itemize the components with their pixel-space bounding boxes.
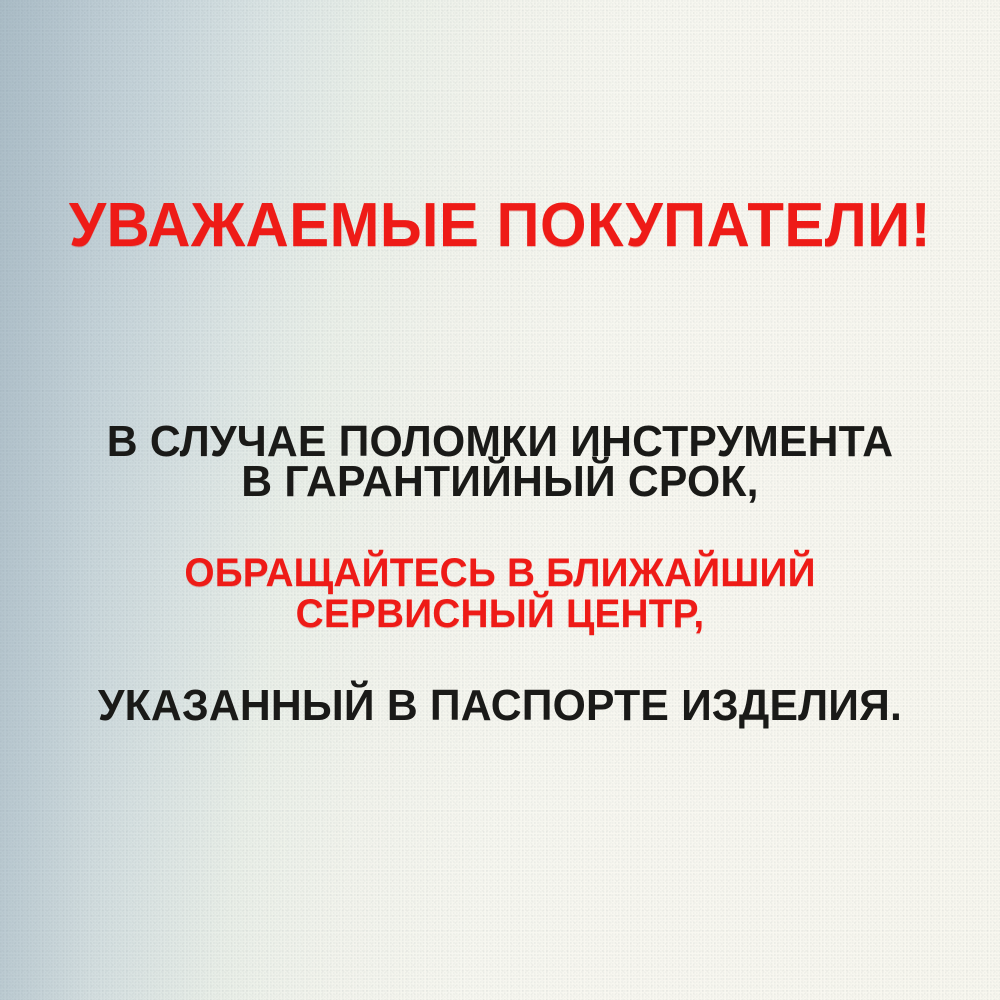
notice-paragraph-passport: УКАЗАННЫЙ В ПАСПОРТЕ ИЗДЕЛИЯ. (15, 686, 985, 726)
notice-line: В ГАРАНТИЙНЫЙ СРОК, (15, 462, 985, 502)
notice-line: СЕРВИСНЫЙ ЦЕНТР, (15, 594, 985, 635)
poster-content: УВАЖАЕМЫЕ ПОКУПАТЕЛИ! В СЛУЧАЕ ПОЛОМКИ И… (0, 0, 1000, 1000)
page-title: УВАЖАЕМЫЕ ПОКУПАТЕЛИ! (18, 192, 983, 260)
notice-poster: УВАЖАЕМЫЕ ПОКУПАТЕЛИ! В СЛУЧАЕ ПОЛОМКИ И… (0, 0, 1000, 1000)
notice-line: УКАЗАННЫЙ В ПАСПОРТЕ ИЗДЕЛИЯ. (15, 686, 985, 726)
notice-paragraph-damage: В СЛУЧАЕ ПОЛОМКИ ИНСТРУМЕНТА В ГАРАНТИЙН… (15, 422, 985, 502)
notice-line: В СЛУЧАЕ ПОЛОМКИ ИНСТРУМЕНТА (15, 422, 985, 462)
notice-line: ОБРАЩАЙТЕСЬ В БЛИЖАЙШИЙ (15, 553, 985, 594)
notice-paragraph-service-center: ОБРАЩАЙТЕСЬ В БЛИЖАЙШИЙ СЕРВИСНЫЙ ЦЕНТР, (15, 553, 985, 635)
